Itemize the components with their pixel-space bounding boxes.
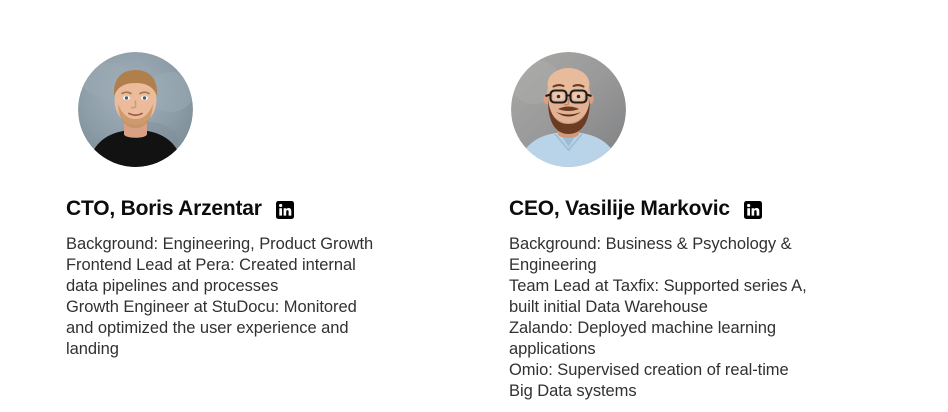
- team-profiles-section: CTO, Boris Arzentar Background: Engineer…: [0, 0, 948, 412]
- bio-line: and optimized the user experience and: [66, 318, 404, 339]
- profile-name-ceo: CEO, Vasilije Markovic: [509, 196, 730, 222]
- bio-line: landing: [66, 339, 404, 360]
- bio-line: Frontend Lead at Pera: Created internal: [66, 255, 404, 276]
- bio-line: Background: Business & Psychology &: [509, 234, 851, 255]
- bio-line: data pipelines and processes: [66, 276, 404, 297]
- bio-line: built initial Data Warehouse: [509, 297, 851, 318]
- avatar-boris-arzentar: [78, 52, 193, 167]
- profile-bio-ceo: Background: Business & Psychology & Engi…: [509, 234, 851, 402]
- avatar-vasilije-markovic: [511, 52, 626, 167]
- bio-line: Team Lead at Taxfix: Supported series A,: [509, 276, 851, 297]
- bio-line: Background: Engineering, Product Growth: [66, 234, 404, 255]
- bio-line: Big Data systems: [509, 381, 851, 402]
- linkedin-icon[interactable]: [276, 201, 294, 219]
- bio-line: Engineering: [509, 255, 851, 276]
- bio-line: Zalando: Deployed machine learning: [509, 318, 851, 339]
- linkedin-icon[interactable]: [744, 201, 762, 219]
- bio-line: Growth Engineer at StuDocu: Monitored: [66, 297, 404, 318]
- bio-line: Omio: Supervised creation of real-time: [509, 360, 851, 381]
- profile-name-cto: CTO, Boris Arzentar: [66, 196, 262, 222]
- profile-bio-cto: Background: Engineering, Product Growth …: [66, 234, 404, 360]
- bio-line: applications: [509, 339, 851, 360]
- profile-name-row-cto: CTO, Boris Arzentar: [66, 196, 294, 222]
- profile-name-row-ceo: CEO, Vasilije Markovic: [509, 196, 762, 222]
